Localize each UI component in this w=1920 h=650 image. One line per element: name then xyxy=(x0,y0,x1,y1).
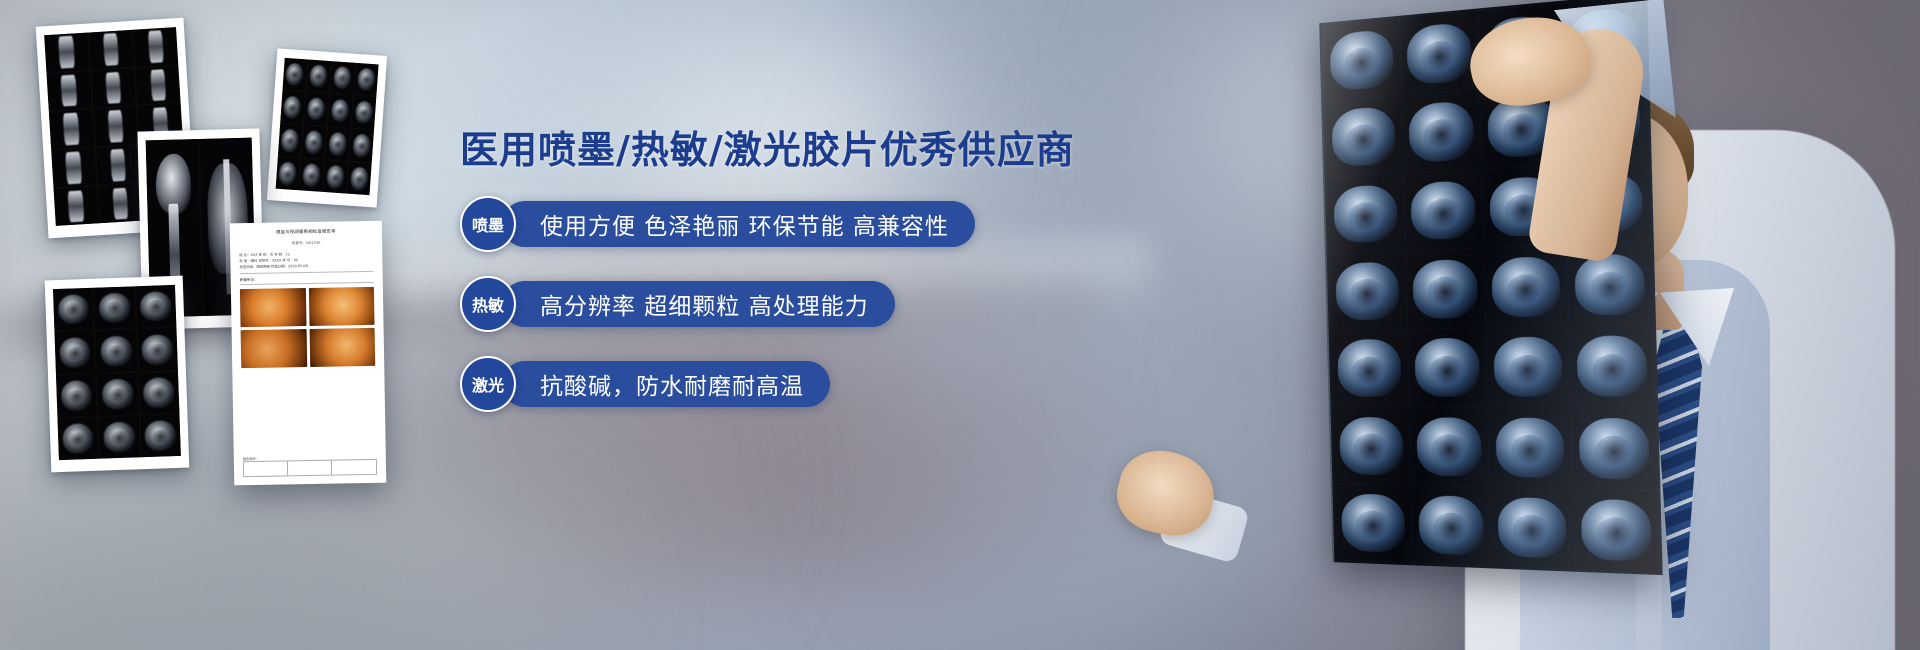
signature-cell xyxy=(288,461,332,476)
medical-film-stack: 眼底与视网膜照相检查报告单 检查号：HX1530 姓 名：XXX 性 别：女 年… xyxy=(0,0,440,520)
mri-slice xyxy=(1406,249,1485,328)
badge-thermal: 热敏 xyxy=(460,276,516,332)
mri-slice xyxy=(1324,19,1400,100)
page-title: 医用喷墨/热敏/激光胶片优秀供应商 xyxy=(460,128,1080,174)
mri-slice xyxy=(1404,170,1483,250)
retina-image xyxy=(240,289,306,328)
banner-content: 医用喷墨/热敏/激光胶片优秀供应商 喷墨 使用方便 色泽艳丽 环保节能 高兼容性… xyxy=(460,128,1080,412)
badge-laser: 激光 xyxy=(460,356,516,412)
mri-slice xyxy=(1331,330,1407,406)
mri-brain-film-small xyxy=(267,48,387,207)
mri-slice xyxy=(1408,329,1487,406)
retina-image xyxy=(241,329,307,368)
retina-image xyxy=(309,328,375,367)
mri-slice xyxy=(1489,408,1571,487)
feature-row-thermal: 热敏 高分辨率 超细颗粒 高处理能力 xyxy=(460,276,1080,332)
signature-cell xyxy=(244,461,288,476)
mri-slice xyxy=(1485,246,1567,326)
printed-report-sheet: 眼底与视网膜照相检查报告单 检查号：HX1530 姓 名：XXX 性 别：女 年… xyxy=(230,221,387,486)
report-image-grid xyxy=(240,287,375,368)
report-meta: 姓 名：XXX 性 别：女 年 龄：52 科 室：眼科 住院号：XXXX 床 号… xyxy=(239,250,373,274)
mri-slice xyxy=(1400,12,1479,95)
retina-image xyxy=(308,287,374,326)
mri-slice xyxy=(1574,489,1660,571)
report-footer: 报告医师： xyxy=(243,454,377,477)
mri-slice xyxy=(1487,327,1569,406)
mri-slice xyxy=(1326,97,1402,177)
mri-slice xyxy=(1412,486,1491,565)
feature-text-laser: 抗酸碱，防水耐磨耐高温 xyxy=(502,361,830,407)
mri-slice xyxy=(1328,174,1404,253)
hero-banner: 眼底与视网膜照相检查报告单 检查号：HX1530 姓 名：XXX 性 别：女 年… xyxy=(0,0,1920,650)
mri-brain-film-grid xyxy=(45,276,190,473)
doctor-photo xyxy=(1060,0,1920,650)
report-subtitle: 检查号：HX1530 xyxy=(239,239,373,246)
mri-slice xyxy=(1333,408,1409,484)
mri-slice xyxy=(1569,326,1655,407)
report-section-label: 影像所见： xyxy=(240,276,374,285)
mri-slice xyxy=(1329,252,1405,329)
report-signature-grid xyxy=(243,459,377,477)
report-title: 眼底与视网膜照相检查报告单 xyxy=(239,229,373,238)
mri-slice xyxy=(1410,408,1489,486)
mri-slice xyxy=(1402,91,1481,173)
feature-row-laser: 激光 抗酸碱，防水耐磨耐高温 xyxy=(460,356,1080,412)
feature-row-inkjet: 喷墨 使用方便 色泽艳丽 环保节能 高兼容性 xyxy=(460,196,1080,252)
feature-text-thermal: 高分辨率 超细颗粒 高处理能力 xyxy=(502,281,895,327)
feature-text-inkjet: 使用方便 色泽艳丽 环保节能 高兼容性 xyxy=(502,201,975,247)
signature-cell xyxy=(332,460,376,475)
feature-row-list: 喷墨 使用方便 色泽艳丽 环保节能 高兼容性 热敏 高分辨率 超细颗粒 高处理能… xyxy=(460,196,1080,412)
mri-slice xyxy=(1335,485,1412,563)
mri-slice xyxy=(1571,408,1657,489)
badge-inkjet: 喷墨 xyxy=(460,196,516,252)
mri-slice xyxy=(1491,488,1574,569)
